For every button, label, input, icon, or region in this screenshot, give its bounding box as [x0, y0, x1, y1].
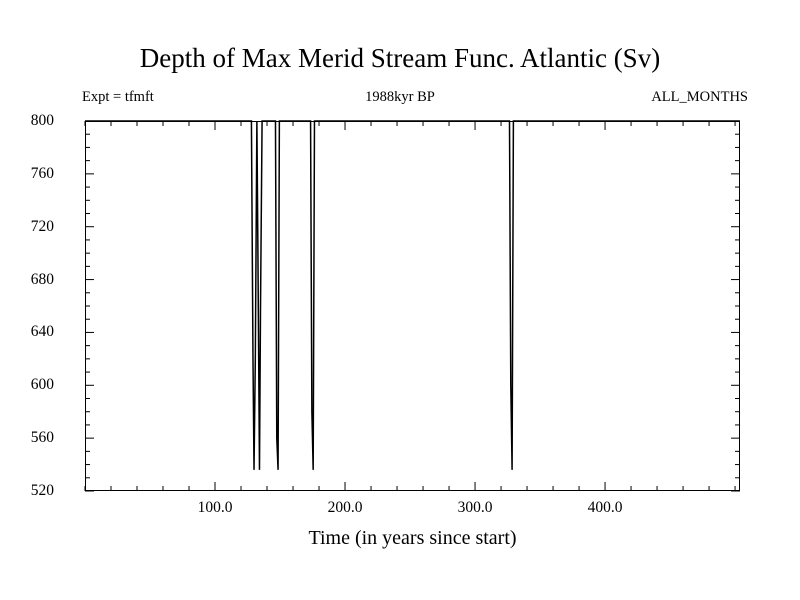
y-tick-label: 600 [0, 377, 54, 393]
y-tick-label: 760 [0, 166, 54, 182]
plot-area [85, 121, 740, 491]
figure-canvas: Depth of Max Merid Stream Func. Atlantic… [0, 0, 800, 600]
data-line-depth-max-msf [85, 121, 740, 470]
x-tick-label: 300.0 [430, 500, 520, 516]
chart-title: Depth of Max Merid Stream Func. Atlantic… [0, 42, 800, 74]
y-tick-label: 720 [0, 219, 54, 235]
x-tick-label: 100.0 [170, 500, 260, 516]
subtitle-months: ALL_MONTHS [651, 89, 748, 105]
y-tick-label: 800 [0, 113, 54, 129]
y-tick-label: 520 [0, 483, 54, 499]
y-tick-label: 680 [0, 272, 54, 288]
x-tick-label: 200.0 [300, 500, 390, 516]
x-axis-title: Time (in years since start) [85, 526, 740, 550]
y-tick-label: 560 [0, 430, 54, 446]
x-tick-label: 400.0 [560, 500, 650, 516]
axis-ticks [85, 121, 740, 491]
data-series-group [85, 121, 740, 470]
y-tick-label: 640 [0, 324, 54, 340]
